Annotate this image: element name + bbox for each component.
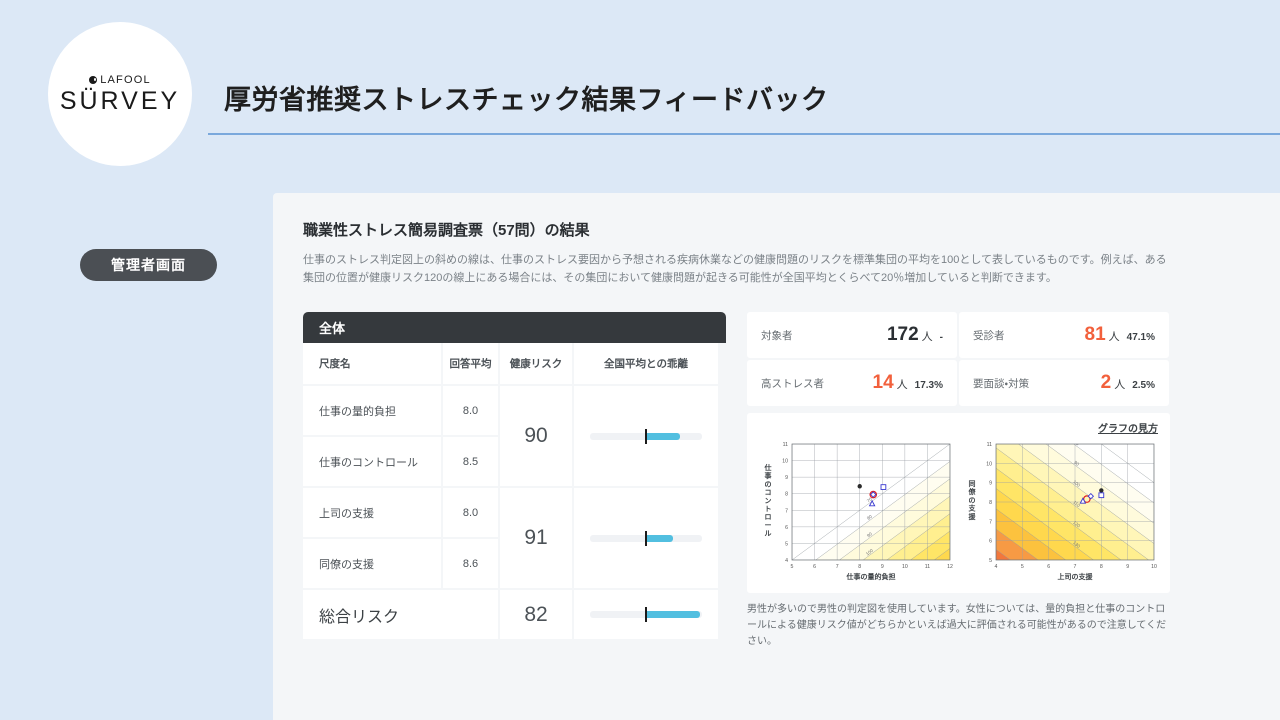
page-title: 厚労省推奨ストレスチェック結果フィードバック [224, 78, 828, 117]
scale-average: 8.0 [443, 386, 498, 435]
svg-text:8: 8 [785, 492, 788, 498]
stat-label: 受診者 [973, 328, 1085, 343]
svg-text:10: 10 [782, 459, 788, 465]
svg-text:8: 8 [1099, 564, 1102, 570]
stat-value: 172 [887, 324, 919, 346]
svg-text:5: 5 [790, 564, 793, 570]
deviation-bar-tick [645, 531, 647, 546]
svg-text:6: 6 [785, 525, 788, 531]
svg-text:12: 12 [947, 564, 953, 570]
svg-text:9: 9 [880, 564, 883, 570]
svg-text:8: 8 [858, 564, 861, 570]
stat-card-target: 対象者 172 人 - [747, 312, 957, 358]
svg-text:ト: ト [764, 505, 771, 513]
stat-card-examined: 受診者 81 人 47.1% [959, 312, 1169, 358]
stat-unit: 人 [922, 328, 933, 344]
table-row: 仕事の量的負担 8.0 仕事のコントロール 8.5 90 [303, 386, 726, 486]
svg-text:コ: コ [764, 489, 771, 497]
stat-label: 対象者 [761, 328, 887, 343]
svg-text:6: 6 [1047, 564, 1050, 570]
stat-label: 高ストレス者 [761, 376, 873, 391]
scale-table-column: 全体 尺度名 回答平均 健康リスク 全国平均との乖離 仕事の量的負担 8.0 [303, 312, 726, 650]
svg-text:僚: 僚 [967, 487, 976, 496]
svg-text:9: 9 [1126, 564, 1129, 570]
scale-table: 尺度名 回答平均 健康リスク 全国平均との乖離 仕事の量的負担 8.0 仕事のコ… [303, 343, 726, 639]
lafool-dot-icon [89, 76, 97, 84]
deviation-bar-tick [645, 607, 647, 622]
svg-text:事: 事 [764, 471, 771, 480]
svg-text:同: 同 [968, 480, 975, 488]
svg-text:仕: 仕 [763, 463, 771, 472]
svg-text:ロ: ロ [764, 513, 771, 521]
deviation-bar-fill [646, 433, 680, 440]
deviation-bar-fill [646, 611, 700, 618]
deviation-bar [590, 535, 702, 542]
stat-value: 14 [873, 372, 894, 394]
panel-description: 仕事のストレス判定図上の斜めの線は、仕事のストレス要因から予想される疾病休業など… [303, 251, 1175, 287]
deviation-bar-fill [646, 535, 673, 542]
stress-chart-supervisor-coworker-support[interactable]: 809010011012013045678910567891011上司の支援同僚… [962, 438, 1160, 586]
svg-text:10: 10 [1151, 564, 1157, 570]
charts-row: 708090100567891011124567891011仕事の量的負担仕事の… [757, 438, 1160, 586]
scale-average: 8.5 [443, 437, 498, 486]
svg-text:10: 10 [901, 564, 907, 570]
stat-values: 14 人 17.3% [873, 372, 944, 394]
table-total-row: 総合リスク 82 [303, 590, 726, 639]
scale-name: 同僚の支援 [303, 539, 441, 588]
stat-cards: 対象者 172 人 - 受診者 81 人 47.1% 高 [747, 312, 1170, 406]
table-group-title: 全体 [303, 312, 726, 343]
stress-judgement-charts-card: グラフの見方 708090100567891011124567891011仕事の… [747, 413, 1170, 593]
total-label: 総合リスク [303, 590, 498, 639]
group-scales: 上司の支援 8.0 同僚の支援 8.6 [303, 488, 498, 588]
stat-value: 81 [1085, 324, 1106, 346]
total-risk-value: 82 [500, 590, 572, 639]
svg-text:11: 11 [924, 564, 929, 570]
svg-text:の: の [968, 497, 975, 505]
logo-brand-text: LAFOOL [100, 74, 151, 86]
svg-text:7: 7 [835, 564, 838, 570]
group-risk-value: 91 [500, 488, 572, 588]
svg-text:11: 11 [986, 442, 991, 448]
brand-logo[interactable]: LAFOOL SÜRVEY [48, 22, 192, 166]
svg-text:4: 4 [994, 564, 997, 570]
svg-text:7: 7 [989, 520, 992, 526]
svg-text:4: 4 [785, 558, 788, 564]
header-divider [208, 133, 1280, 135]
scale-name: 仕事の量的負担 [303, 386, 441, 435]
svg-text:上司の支援: 上司の支援 [1057, 572, 1093, 581]
admin-screen-badge[interactable]: 管理者画面 [80, 249, 217, 281]
list-item: 仕事の量的負担 8.0 [303, 386, 498, 435]
svg-text:ン: ン [764, 497, 771, 505]
svg-text:8: 8 [989, 500, 992, 506]
deviation-bar-tick [645, 429, 647, 444]
list-item: 上司の支援 8.0 [303, 488, 498, 537]
logo-product-text: SÜRVEY [60, 89, 180, 114]
svg-text:ル: ル [764, 530, 771, 538]
logo-brand-row: LAFOOL [89, 74, 151, 86]
group-risk-value: 90 [500, 386, 572, 486]
summary-column: 対象者 172 人 - 受診者 81 人 47.1% 高 [747, 312, 1170, 650]
stat-percent: 2.5% [1132, 380, 1155, 391]
stat-unit: 人 [1109, 328, 1120, 344]
svg-text:6: 6 [989, 539, 992, 545]
svg-text:の: の [764, 481, 771, 489]
svg-text:ー: ー [764, 523, 771, 530]
svg-text:援: 援 [968, 512, 976, 521]
svg-text:5: 5 [785, 542, 788, 548]
svg-text:支: 支 [967, 504, 976, 513]
graph-help-link[interactable]: グラフの見方 [1098, 420, 1158, 435]
svg-text:11: 11 [782, 442, 787, 448]
svg-text:仕事の量的負担: 仕事の量的負担 [845, 572, 895, 581]
page-header: LAFOOL SÜRVEY 厚労省推奨ストレスチェック結果フィードバック [0, 0, 1280, 180]
group-deviation-cell [574, 386, 718, 486]
stat-values: 172 人 - [887, 324, 943, 346]
svg-text:10: 10 [986, 462, 992, 468]
svg-text:5: 5 [1020, 564, 1023, 570]
header-average: 回答平均 [443, 343, 498, 384]
total-deviation-cell [574, 590, 718, 639]
stat-percent: - [940, 332, 943, 343]
panel-content: 全体 尺度名 回答平均 健康リスク 全国平均との乖離 仕事の量的負担 8.0 [303, 312, 1250, 650]
scale-name: 仕事のコントロール [303, 437, 441, 486]
header-risk: 健康リスク [500, 343, 572, 384]
group-deviation-cell [574, 488, 718, 588]
stat-unit: 人 [897, 376, 908, 392]
header-deviation: 全国平均との乖離 [574, 343, 718, 384]
table-header-row: 尺度名 回答平均 健康リスク 全国平均との乖離 [303, 343, 726, 384]
chart-footnote: 男性が多いので男性の判定図を使用しています。女性については、量的負担と仕事のコン… [747, 602, 1170, 650]
svg-text:9: 9 [785, 475, 788, 481]
scale-average: 8.0 [443, 488, 498, 537]
svg-text:6: 6 [813, 564, 816, 570]
stress-chart-quantitative-control[interactable]: 708090100567891011124567891011仕事の量的負担仕事の… [758, 438, 956, 586]
stat-percent: 17.3% [915, 380, 943, 391]
stat-label: 要面談・対策 [973, 376, 1101, 391]
group-scales: 仕事の量的負担 8.0 仕事のコントロール 8.5 [303, 386, 498, 486]
svg-text:7: 7 [1073, 564, 1076, 570]
panel-title: 職業性ストレス簡易調査票（57問）の結果 [303, 219, 1250, 240]
stat-card-interview-needed: 要面談・対策 2 人 2.5% [959, 360, 1169, 406]
stat-unit: 人 [1114, 376, 1125, 392]
scale-name: 上司の支援 [303, 488, 441, 537]
table-row: 上司の支援 8.0 同僚の支援 8.6 91 [303, 488, 726, 588]
deviation-bar [590, 611, 702, 618]
list-item: 仕事のコントロール 8.5 [303, 437, 498, 486]
results-panel: 職業性ストレス簡易調査票（57問）の結果 仕事のストレス判定図上の斜めの線は、仕… [273, 193, 1280, 720]
deviation-bar [590, 433, 702, 440]
list-item: 同僚の支援 8.6 [303, 539, 498, 588]
svg-text:9: 9 [989, 481, 992, 487]
stat-percent: 47.1% [1127, 332, 1155, 343]
svg-text:5: 5 [989, 558, 992, 564]
scale-average: 8.6 [443, 539, 498, 588]
stat-card-high-stress: 高ストレス者 14 人 17.3% [747, 360, 957, 406]
stat-value: 2 [1101, 372, 1112, 394]
svg-text:7: 7 [785, 509, 788, 515]
stat-values: 2 人 2.5% [1101, 372, 1155, 394]
stat-values: 81 人 47.1% [1085, 324, 1156, 346]
header-scale-name: 尺度名 [303, 343, 441, 384]
